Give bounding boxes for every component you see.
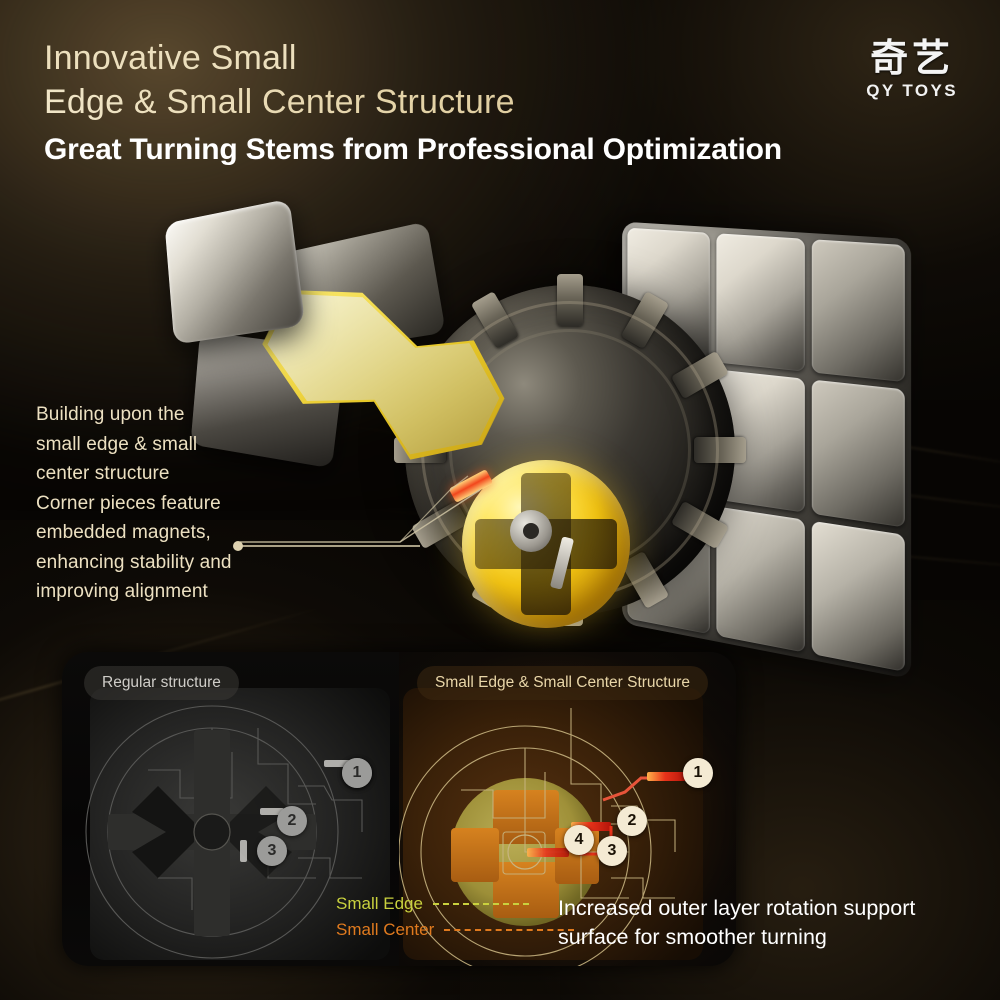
legend-small-center-label: Small Center xyxy=(336,920,434,940)
annotation-text-block: Building upon the small edge & small cen… xyxy=(36,400,276,607)
legend-small-edge-label: Small Edge xyxy=(336,894,423,914)
structure-legend: Small Edge Small Center xyxy=(336,894,574,946)
marker-small-3[interactable]: 3 xyxy=(597,836,627,866)
caption-line-1: Increased outer layer rotation support xyxy=(558,894,978,923)
legend-small-center: Small Center xyxy=(336,920,574,940)
headline-block: Innovative Small Edge & Small Center Str… xyxy=(44,36,744,170)
marker-small-4[interactable]: 4 xyxy=(564,825,594,855)
headline-line-1: Innovative Small xyxy=(44,36,744,80)
annotation-line-2: small edge & small xyxy=(36,430,276,460)
headline-line-3: Great Turning Stems from Professional Op… xyxy=(44,130,744,170)
headline-line-2: Edge & Small Center Structure xyxy=(44,80,744,124)
bottom-caption: Increased outer layer rotation support s… xyxy=(558,894,978,952)
caption-line-2: surface for smoother turning xyxy=(558,923,978,952)
legend-small-edge-dash xyxy=(433,903,529,905)
annotation-line-4: Corner pieces feature xyxy=(36,489,276,519)
marker-regular-3[interactable]: 3 xyxy=(257,836,287,866)
logo-chinese-characters: 奇艺 xyxy=(866,38,958,78)
annotation-line-7: improving alignment xyxy=(36,577,276,607)
poster-canvas: Innovative Small Edge & Small Center Str… xyxy=(0,0,1000,1000)
marker-regular-1[interactable]: 1 xyxy=(342,758,372,788)
panel-title-regular: Regular structure xyxy=(84,666,239,700)
marker-small-1[interactable]: 1 xyxy=(683,758,713,788)
annotation-line-1: Building upon the xyxy=(36,400,276,430)
marker-regular-2[interactable]: 2 xyxy=(277,806,307,836)
panel-title-small-structure: Small Edge & Small Center Structure xyxy=(417,666,708,700)
legend-small-center-dash xyxy=(444,929,574,931)
annotation-leader-line xyxy=(232,536,422,556)
marker-small-2[interactable]: 2 xyxy=(617,806,647,836)
logo-wordmark: QY TOYS xyxy=(866,81,958,101)
brand-logo: 奇艺 QY TOYS xyxy=(866,38,958,101)
annotation-line-3: center structure xyxy=(36,459,276,489)
legend-small-edge: Small Edge xyxy=(336,894,574,914)
